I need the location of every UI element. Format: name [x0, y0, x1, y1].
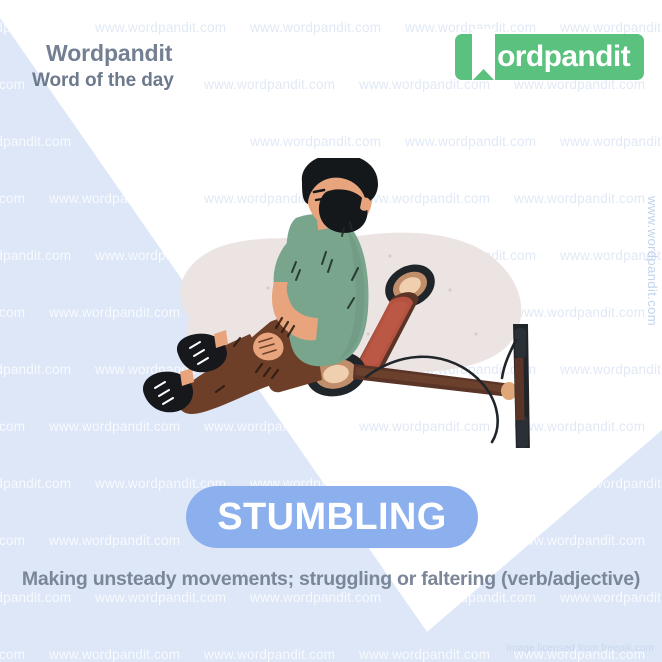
shoe-near: [177, 330, 228, 372]
word-banner: STUMBLING: [186, 486, 478, 548]
shoe-far: [143, 368, 194, 412]
wordpandit-logo[interactable]: ordpandit: [455, 34, 644, 80]
word-of-the-day-card: www.wordpandit.comwww.wordpandit.comwww.…: [0, 0, 662, 662]
logo-text: ordpandit: [497, 42, 630, 72]
illustration-man-fallen-off-scooter: [120, 158, 550, 448]
bookmark-w-icon: [471, 29, 496, 81]
page-subtitle: Word of the day: [32, 70, 174, 92]
image-credit: Image licensed from freepik.com: [506, 643, 654, 654]
word-of-the-day: STUMBLING: [217, 498, 446, 536]
word-definition: Making unsteady movements; struggling or…: [0, 568, 662, 591]
watermark-vertical: www.wordpandit.com: [645, 196, 660, 326]
page-title: Wordpandit: [46, 40, 172, 67]
